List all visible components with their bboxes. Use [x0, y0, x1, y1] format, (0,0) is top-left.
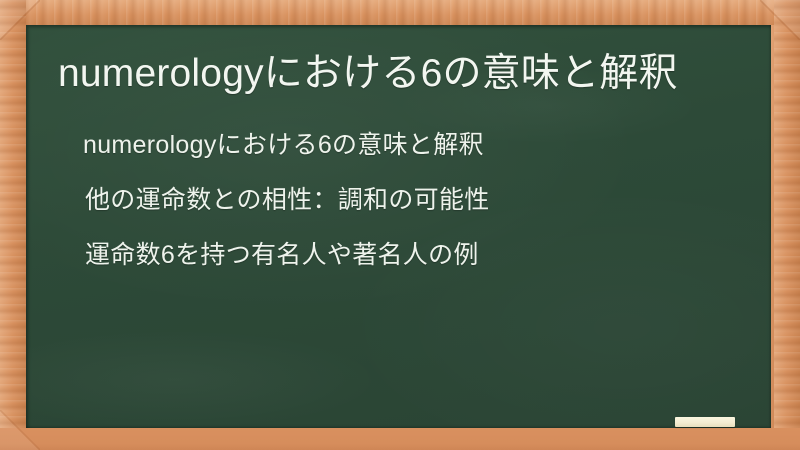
board-line-1: numerologyにおける6の意味と解釈 [83, 133, 741, 158]
frame-rail-left [0, 0, 26, 450]
board-line-2: 他の運命数との相性：調和の可能性 [83, 188, 741, 213]
board-title: numerologyにおける6の意味と解釈 [58, 52, 678, 96]
chalk-stick [675, 417, 735, 427]
chalkboard-slide: numerologyにおける6の意味と解釈 numerologyにおける6の意味… [0, 0, 800, 450]
frame-rail-right [774, 0, 800, 450]
board-line-3: 運命数6を持つ有名人や著名人の例 [83, 243, 741, 268]
frame-chalk-ledge [0, 428, 800, 450]
frame-rail-top [0, 0, 800, 25]
chalkboard-surface: numerologyにおける6の意味と解釈 numerologyにおける6の意味… [26, 25, 771, 428]
board-line-list: numerologyにおける6の意味と解釈 他の運命数との相性：調和の可能性 運… [83, 133, 741, 268]
